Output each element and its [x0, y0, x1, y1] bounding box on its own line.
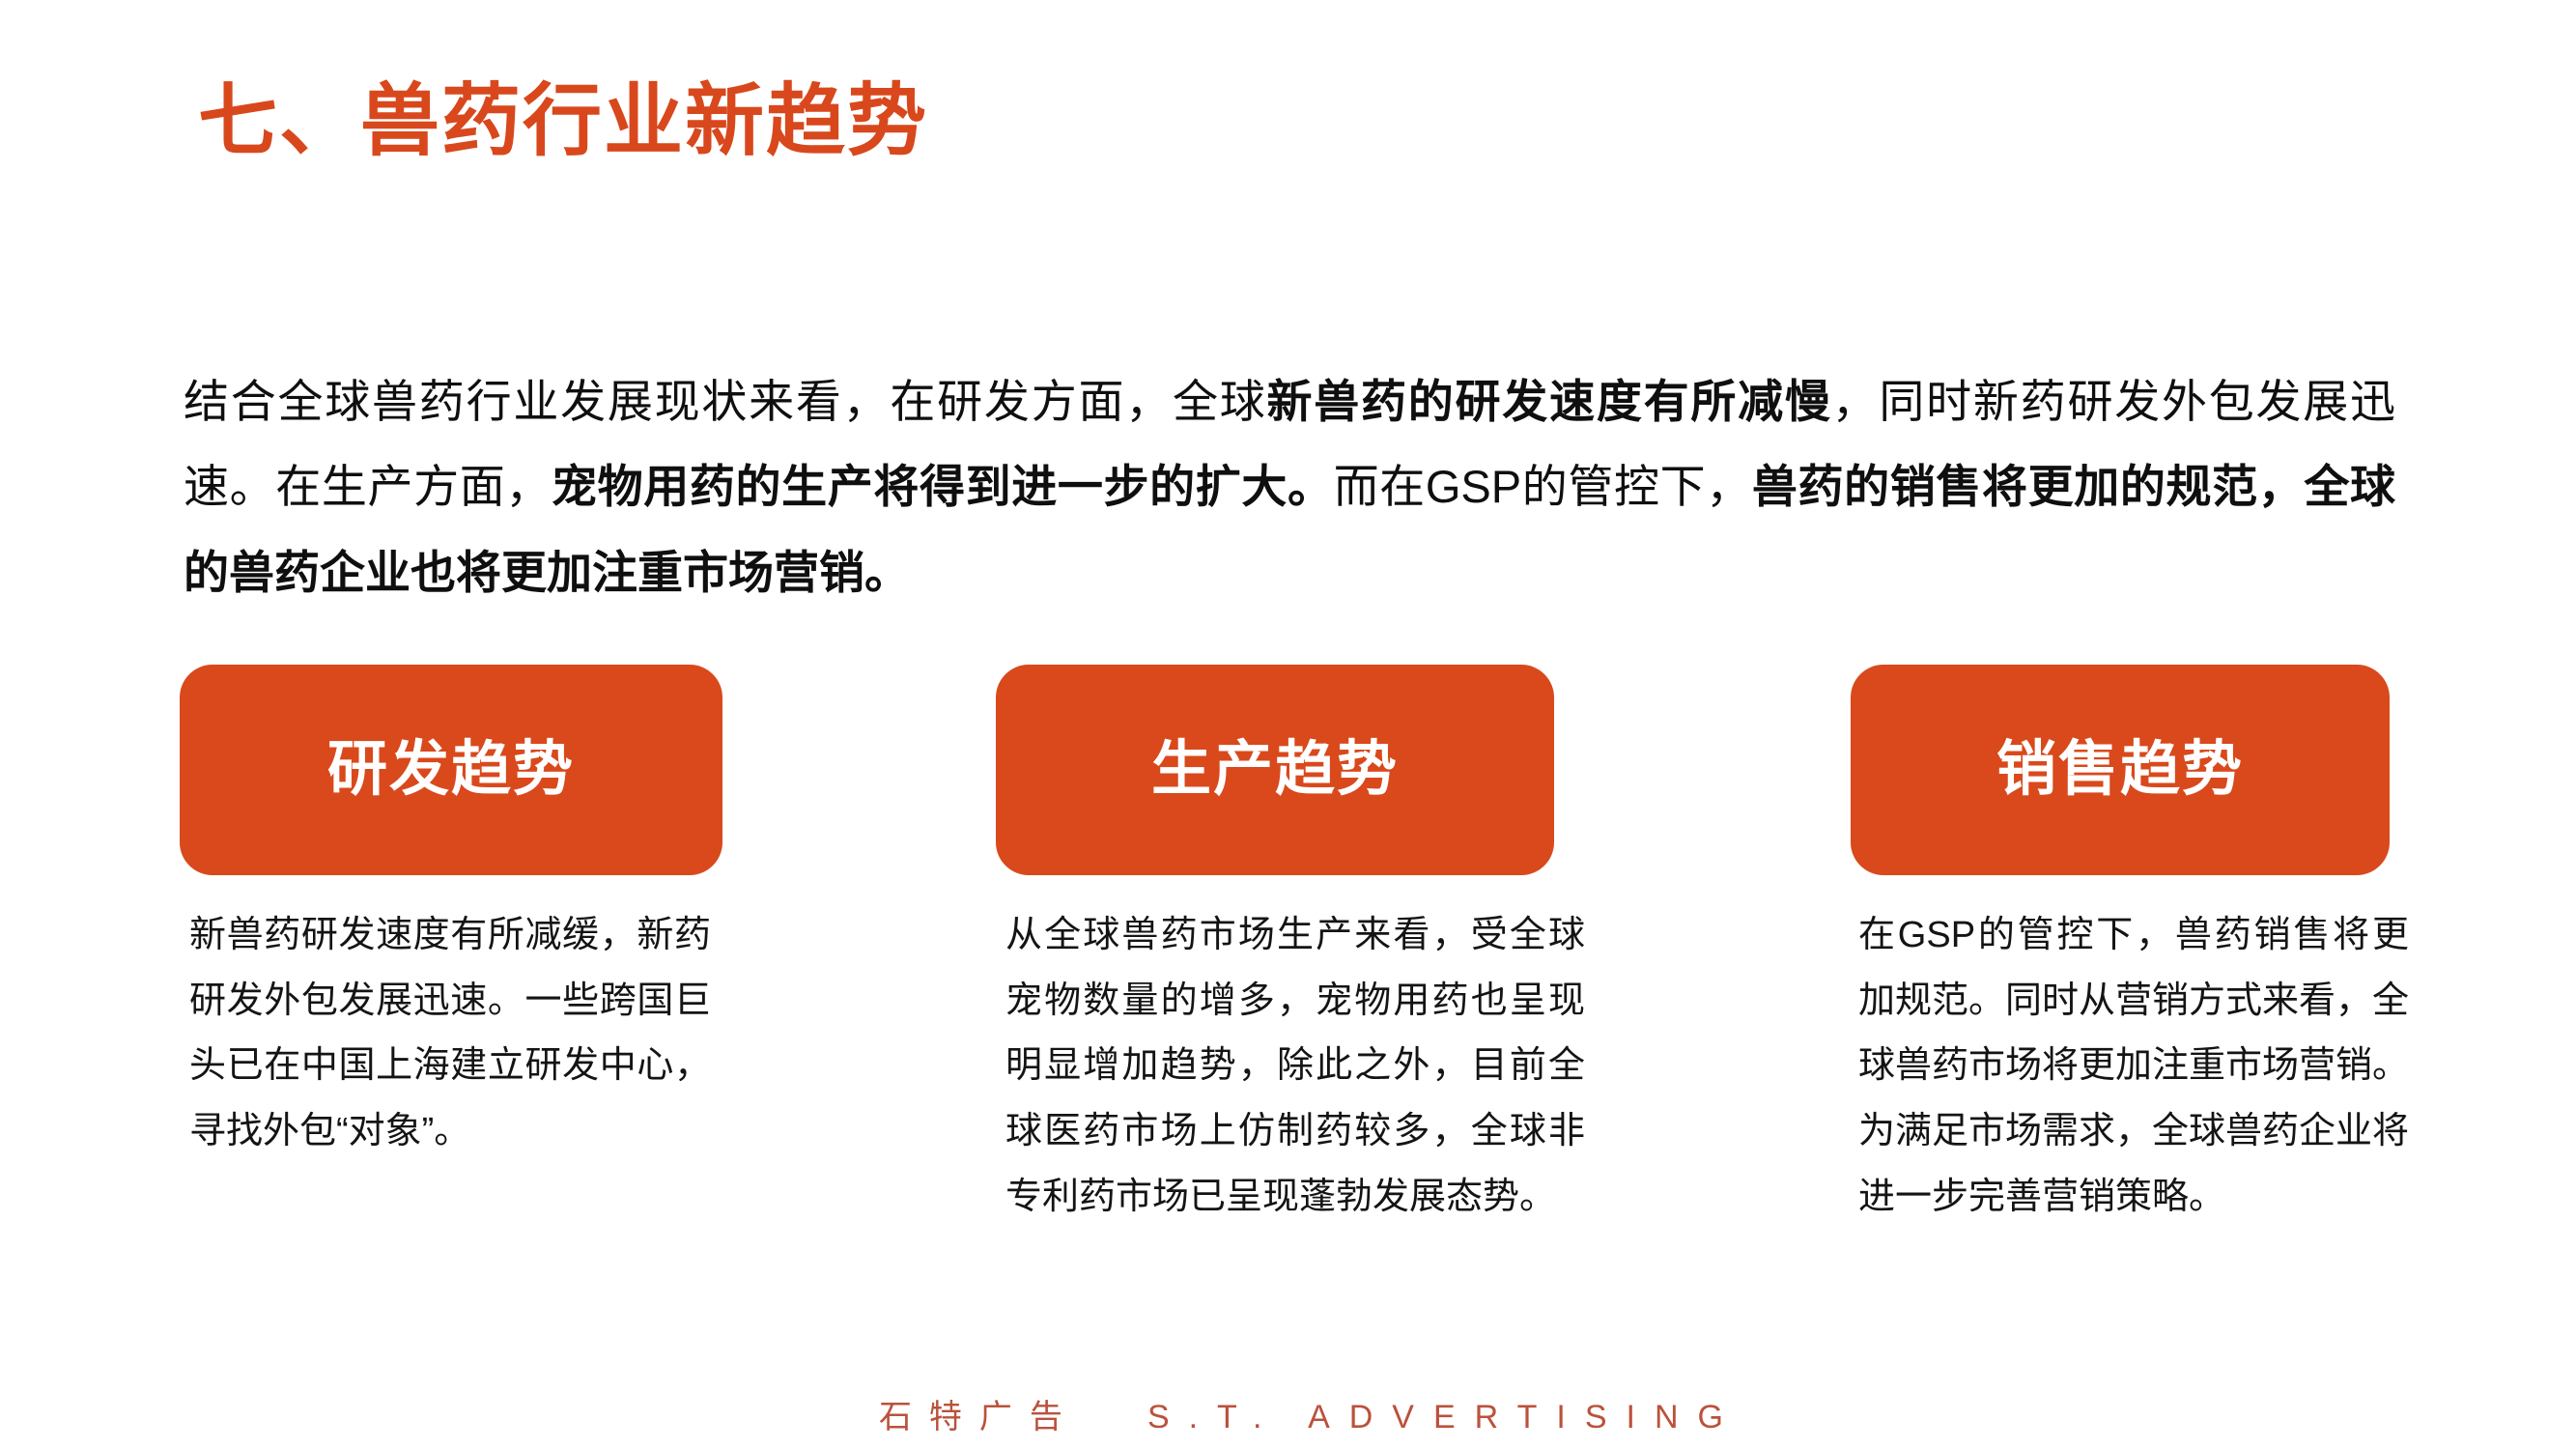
footer-english-name: S.T. ADVERTISING — [1147, 1399, 1742, 1435]
trend-description-production: 从全球兽药市场生产来看，受全球宠物数量的增多，宠物用药也呈现明显增加趋势，除此之… — [1005, 903, 1585, 1230]
intro-paragraph: 结合全球兽药行业发展现状来看，在研发方面，全球新兽药的研发速度有所减慢，同时新药… — [184, 359, 2395, 615]
intro-segment-4: 而在GSP的管控下， — [1334, 461, 1752, 512]
trend-description-rd: 新兽药研发速度有所减缓，新药研发外包发展迅速。一些跨国巨头已在中国上海建立研发中… — [189, 903, 711, 1165]
intro-segment-1-bold: 新兽药的研发速度有所减慢 — [1267, 376, 1832, 427]
trend-card-rd[interactable]: 研发趋势 — [180, 665, 722, 875]
page-title: 七、兽药行业新趋势 — [198, 82, 928, 161]
trend-card-row: 研发趋势 生产趋势 销售趋势 — [180, 665, 2392, 877]
intro-segment-0: 结合全球兽药行业发展现状来看，在研发方面，全球 — [184, 376, 1267, 427]
trend-card-rd-title: 研发趋势 — [327, 740, 575, 800]
footer-branding: 石特广告S.T. ADVERTISING — [0, 1352, 2576, 1437]
trend-card-sales-title: 销售趋势 — [1996, 740, 2244, 800]
trend-card-production-title: 生产趋势 — [1151, 740, 1399, 800]
trend-description-row: 新兽药研发速度有所减缓，新药研发外包发展迅速。一些跨国巨头已在中国上海建立研发中… — [189, 903, 2401, 1222]
trend-card-production[interactable]: 生产趋势 — [996, 665, 1554, 875]
intro-segment-3-bold: 宠物用药的生产将得到进一步的扩大。 — [552, 461, 1334, 512]
trend-description-sales: 在GSP的管控下，兽药销售将更加规范。同时从营销方式来看，全球兽药市场将更加注重… — [1858, 903, 2409, 1230]
trend-card-sales[interactable]: 销售趋势 — [1851, 665, 2390, 875]
footer-chinese-name: 石特广告 — [879, 1399, 1080, 1435]
